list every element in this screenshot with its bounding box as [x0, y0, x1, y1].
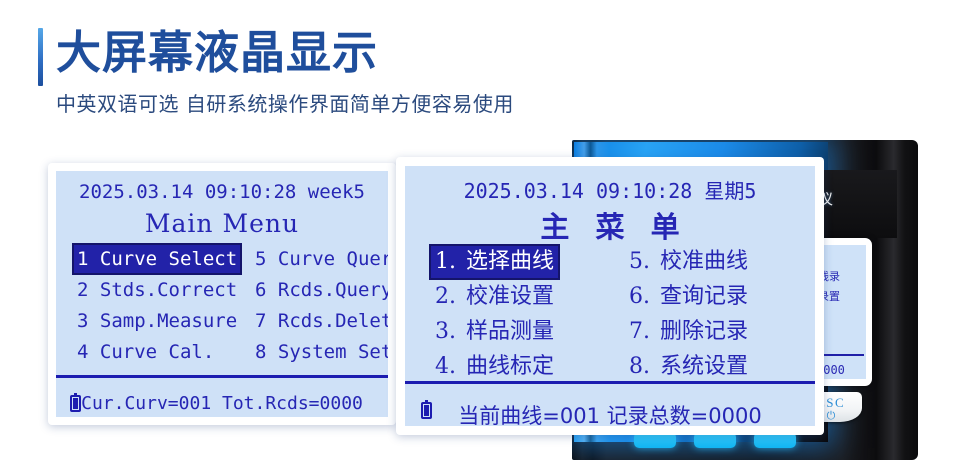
menu-row: 2 Stds.Correct 6 Rcds.Query	[74, 276, 388, 307]
menu-item-sample-measure[interactable]: 3.样品测量	[431, 316, 558, 348]
menu-item-curve-calibration[interactable]: 4.曲线标定	[431, 351, 558, 383]
lcd-screen-chinese: 2025.03.14 09:10:28 星期5 主 菜 单 1.选择曲线 5.校…	[396, 157, 824, 435]
menu-row: 2.校准设置 6.查询记录	[425, 281, 815, 316]
menu-row: 3 Samp.Measure 7 Rcds.Delete	[74, 307, 388, 338]
promo-banner: 大屏幕液晶显示 中英双语可选 自研系统操作界面简单方便容易使用 测定仪 线录录置…	[0, 0, 980, 460]
menu-item-calibration-setup[interactable]: 2.校准设置	[431, 281, 558, 313]
page-title: 大屏幕液晶显示	[56, 22, 378, 84]
lcd-english-datetime: 2025.03.14 09:10:28 week5	[56, 181, 388, 203]
menu-item-query-records[interactable]: 6.查询记录	[625, 281, 752, 313]
menu-item-system-settings[interactable]: 8.系统设置	[625, 351, 752, 383]
lcd-chinese-screen: 2025.03.14 09:10:28 星期5 主 菜 单 1.选择曲线 5.校…	[405, 166, 815, 426]
menu-item-number: 8.	[629, 354, 650, 379]
menu-row: 3.样品测量 7.删除记录	[425, 316, 815, 351]
lcd-english-status: Cur.Curv=001 Tot.Rcds=0000	[56, 393, 388, 414]
lcd-chinese-divider	[405, 381, 815, 384]
menu-item-number: 4.	[435, 354, 456, 379]
menu-item-curve-select[interactable]: 1 Curve Select	[74, 245, 240, 273]
lcd-english-menu: 1 Curve Select 5 Curve Query 2 Stds.Corr…	[74, 245, 388, 369]
lcd-chinese-title: 主 菜 单	[405, 204, 815, 246]
menu-item-system-set[interactable]: 8 System Set	[252, 338, 388, 366]
accent-bar	[38, 28, 43, 86]
menu-row: 4 Curve Cal. 8 System Set	[74, 338, 388, 369]
menu-item-number: 2.	[435, 284, 456, 309]
menu-item-label: 查询记录	[660, 284, 748, 309]
lcd-screen-english: 2025.03.14 09:10:28 week5 Main Menu 1 Cu…	[48, 163, 396, 425]
menu-item-curve-cal[interactable]: 4 Curve Cal.	[74, 338, 217, 366]
lcd-english-divider	[56, 375, 388, 378]
menu-item-number: 3.	[435, 319, 456, 344]
menu-item-label: 样品测量	[466, 319, 554, 344]
header: 大屏幕液晶显示 中英双语可选 自研系统操作界面简单方便容易使用	[0, 0, 660, 130]
menu-item-select-curve[interactable]: 1.选择曲线	[431, 246, 558, 278]
menu-item-label: 校准设置	[466, 284, 554, 309]
menu-item-label: 系统设置	[660, 354, 748, 379]
menu-item-calibration-curve[interactable]: 5.校准曲线	[625, 246, 752, 278]
menu-item-number: 7.	[629, 319, 650, 344]
menu-item-samp-measure[interactable]: 3 Samp.Measure	[74, 307, 240, 335]
lcd-chinese-datetime: 2025.03.14 09:10:28 星期5	[405, 175, 815, 204]
lcd-chinese-status: 当前曲线=001 记录总数=0000	[405, 400, 815, 426]
menu-item-rcds-delete[interactable]: 7 Rcds.Delete	[252, 307, 388, 335]
page-subtitle: 中英双语可选 自研系统操作界面简单方便容易使用	[56, 88, 514, 117]
menu-item-number: 1.	[435, 249, 456, 274]
device-secondary-lcd-divider	[818, 354, 864, 356]
menu-item-curve-query[interactable]: 5 Curve Query	[252, 245, 388, 273]
menu-item-delete-records[interactable]: 7.删除记录	[625, 316, 752, 348]
menu-item-stds-correct[interactable]: 2 Stds.Correct	[74, 276, 240, 304]
lcd-english-title: Main Menu	[56, 209, 388, 238]
menu-item-number: 5.	[629, 249, 650, 274]
menu-row: 1.选择曲线 5.校准曲线	[425, 246, 815, 281]
menu-item-label: 删除记录	[660, 319, 748, 344]
lcd-english-screen: 2025.03.14 09:10:28 week5 Main Menu 1 Cu…	[56, 171, 388, 417]
menu-item-rcds-query[interactable]: 6 Rcds.Query	[252, 276, 388, 304]
menu-item-label: 选择曲线	[466, 249, 554, 274]
menu-row: 1 Curve Select 5 Curve Query	[74, 245, 388, 276]
menu-item-label: 校准曲线	[660, 249, 748, 274]
menu-item-label: 曲线标定	[466, 354, 554, 379]
lcd-chinese-menu: 1.选择曲线 5.校准曲线 2.校准设置 6.查询记录 3.样品测量 7.删除记…	[425, 246, 815, 386]
menu-item-number: 6.	[629, 284, 650, 309]
